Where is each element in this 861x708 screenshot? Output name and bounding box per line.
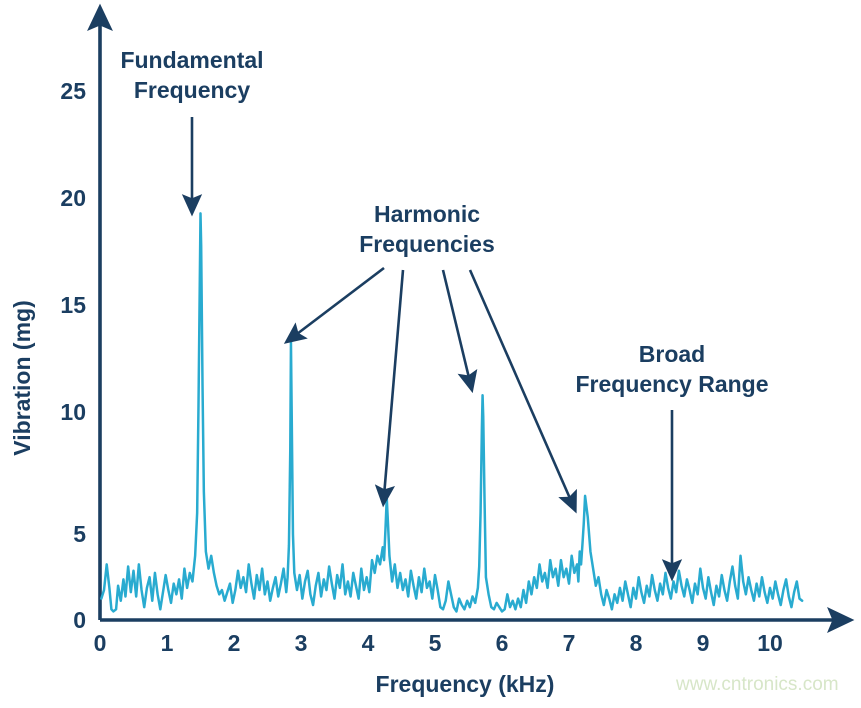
- x-axis-title: Frequency (kHz): [376, 671, 555, 697]
- y-axis-title: Vibration (mg): [9, 300, 35, 455]
- y-tick-label-0: 0: [73, 607, 86, 633]
- x-tick-label-3: 3: [295, 630, 308, 656]
- harmonic-arrow-2: [384, 270, 403, 496]
- y-tick-label-20: 20: [60, 185, 86, 211]
- x-tick-label-7: 7: [563, 630, 576, 656]
- harmonic-arrow-3: [443, 270, 470, 382]
- axes-group: [100, 18, 840, 620]
- y-tick-label-15: 15: [60, 292, 86, 318]
- y-tick-label-25: 25: [60, 78, 86, 104]
- y-tick-label-5: 5: [73, 521, 86, 547]
- x-tick-label-1: 1: [161, 630, 174, 656]
- x-tick-label-8: 8: [630, 630, 643, 656]
- annotation-harmonic: Harmonic Frequencies: [293, 201, 572, 503]
- harmonic-label-line2: Frequencies: [359, 231, 495, 257]
- vibration-spectrum-chart: 0 5 10 15 20 25 0 1 2 3 4 5 6 7 8 9 10 F…: [0, 0, 861, 708]
- x-tick-label-6: 6: [496, 630, 509, 656]
- x-tick-label-0: 0: [94, 630, 107, 656]
- y-tick-labels: 0 5 10 15 20 25: [60, 78, 86, 633]
- y-tick-label-10: 10: [60, 399, 86, 425]
- harmonic-label-line1: Harmonic: [374, 201, 480, 227]
- x-tick-label-10: 10: [757, 630, 783, 656]
- annotation-fundamental: Fundamental Frequency: [120, 47, 263, 205]
- broad-label-line2: Frequency Range: [576, 371, 769, 397]
- watermark: www.cntronics.com: [675, 674, 839, 695]
- x-tick-label-4: 4: [362, 630, 375, 656]
- annotation-broad-range: Broad Frequency Range: [576, 341, 769, 570]
- x-tick-labels: 0 1 2 3 4 5 6 7 8 9 10: [94, 630, 783, 656]
- spectrum-series-group: [101, 213, 802, 611]
- fundamental-label-line2: Frequency: [134, 77, 251, 103]
- spectrum-line: [101, 213, 802, 611]
- harmonic-arrow-1: [293, 268, 384, 337]
- broad-label-line1: Broad: [639, 341, 705, 367]
- x-tick-label-9: 9: [697, 630, 710, 656]
- harmonic-arrow-4: [470, 270, 572, 503]
- x-tick-label-2: 2: [228, 630, 241, 656]
- fundamental-label-line1: Fundamental: [120, 47, 263, 73]
- chart-canvas: 0 5 10 15 20 25 0 1 2 3 4 5 6 7 8 9 10 F…: [0, 0, 861, 708]
- x-tick-label-5: 5: [429, 630, 442, 656]
